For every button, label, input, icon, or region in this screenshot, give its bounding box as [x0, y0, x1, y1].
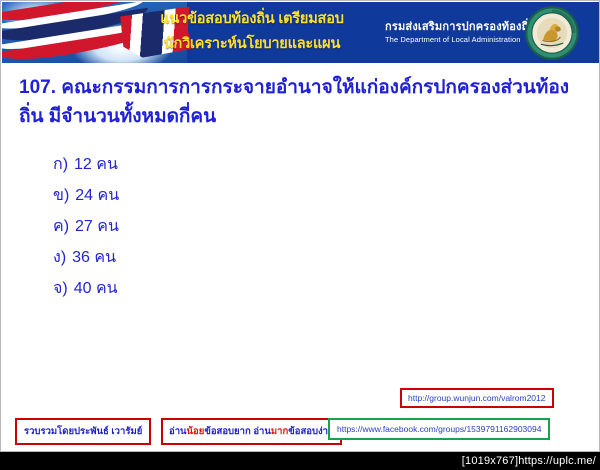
motto-label: อ่านน้อยข้อสอบยาก อ่านมากข้อสอบง่าย	[161, 418, 342, 445]
motto-part-3: ข้อสอบง่าย	[288, 426, 333, 437]
choice-label: 12 คน	[74, 156, 118, 173]
question-text: 107. คณะกรรมการการกระจายอำนาจให้แก่องค์ก…	[19, 73, 585, 131]
choice-key: ง)	[53, 249, 66, 266]
choice-key: ข)	[53, 187, 69, 204]
choice-item[interactable]: ข)24 คน	[53, 180, 453, 211]
choice-item[interactable]: ก)12 คน	[53, 149, 453, 180]
department-name-en: The Department of Local Administration	[385, 34, 520, 45]
choice-item[interactable]: ค)27 คน	[53, 211, 453, 242]
header-title-line2: นักวิเคราะห์นโยบายและแผน	[122, 32, 382, 57]
choice-label: 40 คน	[74, 280, 118, 297]
choice-list: ก)12 คน ข)24 คน ค)27 คน ง)36 คน จ)40 คน	[53, 149, 453, 304]
choice-key: จ)	[53, 280, 68, 297]
department-seal-icon	[524, 5, 580, 61]
motto-highlight-1: น้อย	[187, 426, 205, 437]
motto-highlight-2: มาก	[271, 426, 288, 437]
motto-part-2: ข้อสอบยาก อ่าน	[204, 426, 271, 437]
group-url-link[interactable]: http://group.wunjun.com/valrom2012	[400, 388, 554, 408]
choice-item[interactable]: ง)36 คน	[53, 242, 453, 273]
choice-label: 27 คน	[75, 218, 119, 235]
choice-key: ค)	[53, 218, 69, 235]
credit-label: รวบรวมโดยประพันธ์ เวารัมย์	[15, 418, 151, 445]
choice-label: 24 คน	[75, 187, 119, 204]
facebook-group-link[interactable]: https://www.facebook.com/groups/15397911…	[328, 418, 550, 440]
header-title-line1: แนวข้อสอบท้องถิ่น เตรียมสอบ	[122, 7, 382, 32]
department-name-th: กรมส่งเสริมการปกครองท้องถิ่น	[385, 20, 520, 34]
choice-key: ก)	[53, 156, 68, 173]
choice-item[interactable]: จ)40 คน	[53, 273, 453, 304]
header-banner: แนวข้อสอบท้องถิ่น เตรียมสอบ นักวิเคราะห์…	[2, 2, 600, 63]
slide-canvas: แนวข้อสอบท้องถิ่น เตรียมสอบ นักวิเคราะห์…	[0, 0, 600, 452]
motto-part-1: อ่าน	[169, 426, 187, 437]
department-block: กรมส่งเสริมการปกครองท้องถิ่น The Departm…	[385, 20, 520, 45]
choice-label: 36 คน	[72, 249, 116, 266]
watermark-bar: [1019x767]https://uplc.me/	[0, 452, 600, 470]
header-title: แนวข้อสอบท้องถิ่น เตรียมสอบ นักวิเคราะห์…	[122, 7, 382, 57]
